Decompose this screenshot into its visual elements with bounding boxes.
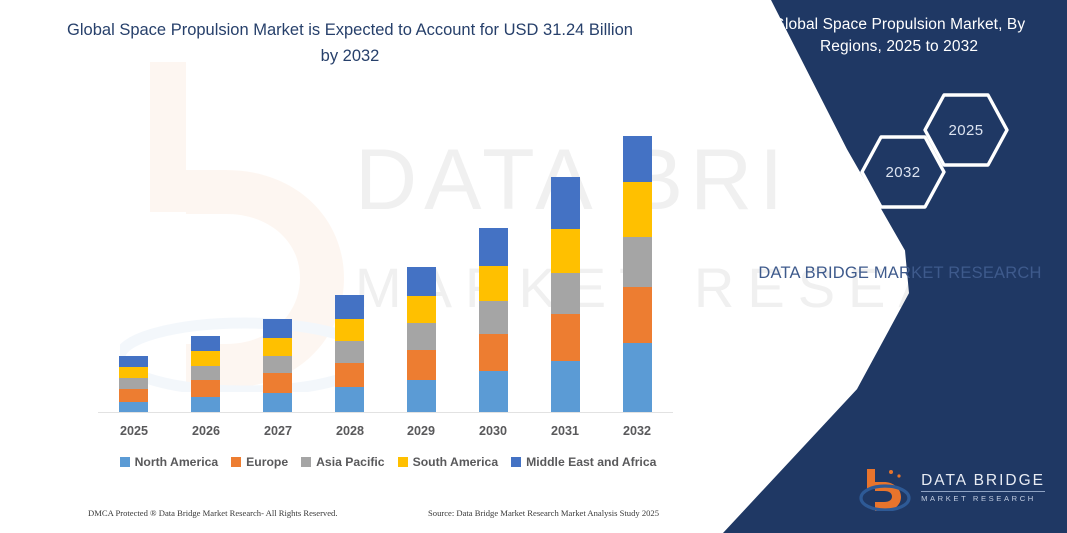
legend-item[interactable]: North America [120, 455, 219, 469]
bar-segment [335, 295, 364, 319]
x-axis-label-2032: 2032 [607, 424, 667, 438]
x-axis-label-2030: 2030 [463, 424, 523, 438]
page-title: Global Space Propulsion Market is Expect… [60, 18, 640, 69]
x-axis-line [98, 412, 673, 413]
hexagon-2025: 2025 [922, 92, 1010, 168]
bar-segment [191, 380, 220, 397]
bar-segment [407, 267, 436, 296]
legend-label: North America [135, 455, 219, 469]
bar-segment [479, 228, 508, 266]
legend-item[interactable]: Europe [231, 455, 288, 469]
bar-segment [191, 366, 220, 380]
bar-segment [551, 177, 580, 229]
dbmr-logo-text: DATA BRIDGE MARKET RESEARCH [921, 473, 1045, 503]
bar-segment [191, 336, 220, 351]
panel-title: Global Space Propulsion Market, By Regio… [749, 14, 1049, 59]
bar-segment [623, 182, 652, 237]
bar-segment [119, 378, 148, 389]
bar-column-2027 [263, 319, 292, 413]
legend-item[interactable]: Middle East and Africa [511, 455, 656, 469]
bar-segment [479, 371, 508, 413]
bar-segment [263, 356, 292, 373]
legend-swatch-icon [231, 457, 241, 467]
x-axis-label-2031: 2031 [535, 424, 595, 438]
legend-label: Europe [246, 455, 288, 469]
dbmr-logo-line2: MARKET RESEARCH [921, 495, 1045, 503]
bar-column-2028 [335, 295, 364, 413]
bar-segment [335, 341, 364, 363]
legend-swatch-icon [511, 457, 521, 467]
bar-segment [407, 350, 436, 380]
x-axis-label-2025: 2025 [104, 424, 164, 438]
stacked-bar-plot [98, 120, 673, 413]
bar-segment [479, 301, 508, 334]
bar-column-2025 [119, 356, 148, 413]
legend-item[interactable]: South America [398, 455, 499, 469]
footer: DMCA Protected ® Data Bridge Market Rese… [0, 505, 700, 529]
bar-column-2029 [407, 267, 436, 413]
panel-brand-text: DATA BRIDGE MARKET RESEARCH [755, 261, 1045, 287]
dbmr-logo-rule [921, 491, 1045, 492]
legend-swatch-icon [120, 457, 130, 467]
bar-segment [407, 380, 436, 413]
bar-segment [623, 237, 652, 287]
bar-segment [263, 373, 292, 393]
dbmr-logo-line1: DATA BRIDGE [921, 473, 1045, 489]
bar-segment [335, 387, 364, 413]
bar-column-2030 [479, 228, 508, 413]
chart-legend: North AmericaEuropeAsia PacificSouth Ame… [98, 455, 678, 469]
x-axis-labels: 20252026202720282029203020312032 [98, 424, 673, 446]
bar-column-2031 [551, 177, 580, 413]
bar-segment [119, 389, 148, 402]
bar-segment [191, 397, 220, 413]
legend-swatch-icon [398, 457, 408, 467]
legend-item[interactable]: Asia Pacific [301, 455, 384, 469]
legend-label: Asia Pacific [316, 455, 384, 469]
bar-segment [407, 323, 436, 350]
bar-segment [407, 296, 436, 323]
bar-segment [623, 287, 652, 343]
x-axis-label-2026: 2026 [176, 424, 236, 438]
legend-label: Middle East and Africa [526, 455, 656, 469]
legend-swatch-icon [301, 457, 311, 467]
bar-segment [479, 334, 508, 371]
hexagon-group: 2032 2025 [777, 92, 1027, 212]
bar-segment [263, 393, 292, 413]
footer-copyright: DMCA Protected ® Data Bridge Market Rese… [88, 508, 338, 518]
bar-segment [551, 229, 580, 273]
x-axis-label-2027: 2027 [248, 424, 308, 438]
bar-segment [623, 136, 652, 182]
hexagon-2025-label: 2025 [922, 92, 1010, 168]
bar-segment [263, 338, 292, 356]
bar-segment [335, 363, 364, 387]
dbmr-logo-mark-icon [859, 465, 911, 511]
bar-segment [479, 266, 508, 301]
bar-column-2032 [623, 136, 652, 413]
bar-segment [551, 361, 580, 413]
bar-segment [191, 351, 220, 366]
bar-column-2026 [191, 336, 220, 413]
x-axis-label-2028: 2028 [320, 424, 380, 438]
infographic-canvas: DATA BRI MARKET RESEARCH Global Space Pr… [0, 0, 1067, 533]
bar-segment [551, 314, 580, 361]
bar-segment [623, 343, 652, 413]
bar-segment [119, 356, 148, 367]
dbmr-logo: DATA BRIDGE MARKET RESEARCH [859, 465, 1045, 511]
legend-label: South America [413, 455, 499, 469]
bar-segment [335, 319, 364, 341]
chart-area: DATA BRI MARKET RESEARCH Global Space Pr… [0, 0, 710, 533]
bar-segment [551, 273, 580, 314]
bar-segment [263, 319, 292, 338]
x-axis-label-2029: 2029 [391, 424, 451, 438]
bar-segment [119, 367, 148, 378]
footer-source: Source: Data Bridge Market Research Mark… [428, 508, 659, 518]
